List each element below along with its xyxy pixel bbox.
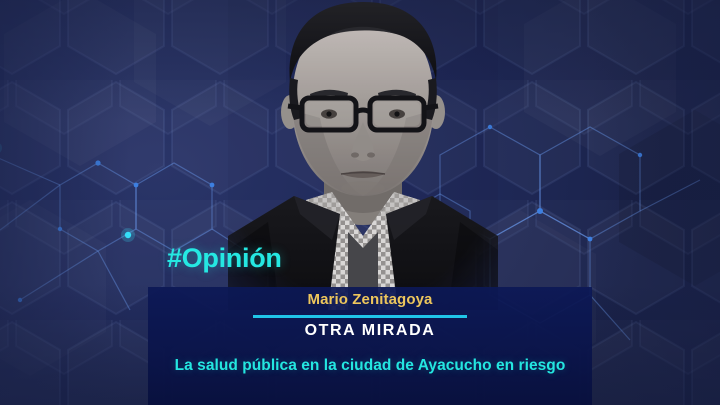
author-name: Mario Zenitagoya	[148, 291, 592, 308]
opinion-hashtag: #Opinión	[167, 243, 282, 274]
panel-divider	[253, 315, 467, 318]
article-headline: La salud pública en la ciudad de Ayacuch…	[142, 357, 598, 375]
opinion-graphic: #Opinión Mario Zenitagoya OTRA MIRADA La…	[0, 0, 720, 405]
column-title: OTRA MIRADA	[148, 322, 592, 340]
info-panel: Mario Zenitagoya OTRA MIRADA La salud pú…	[148, 287, 592, 405]
